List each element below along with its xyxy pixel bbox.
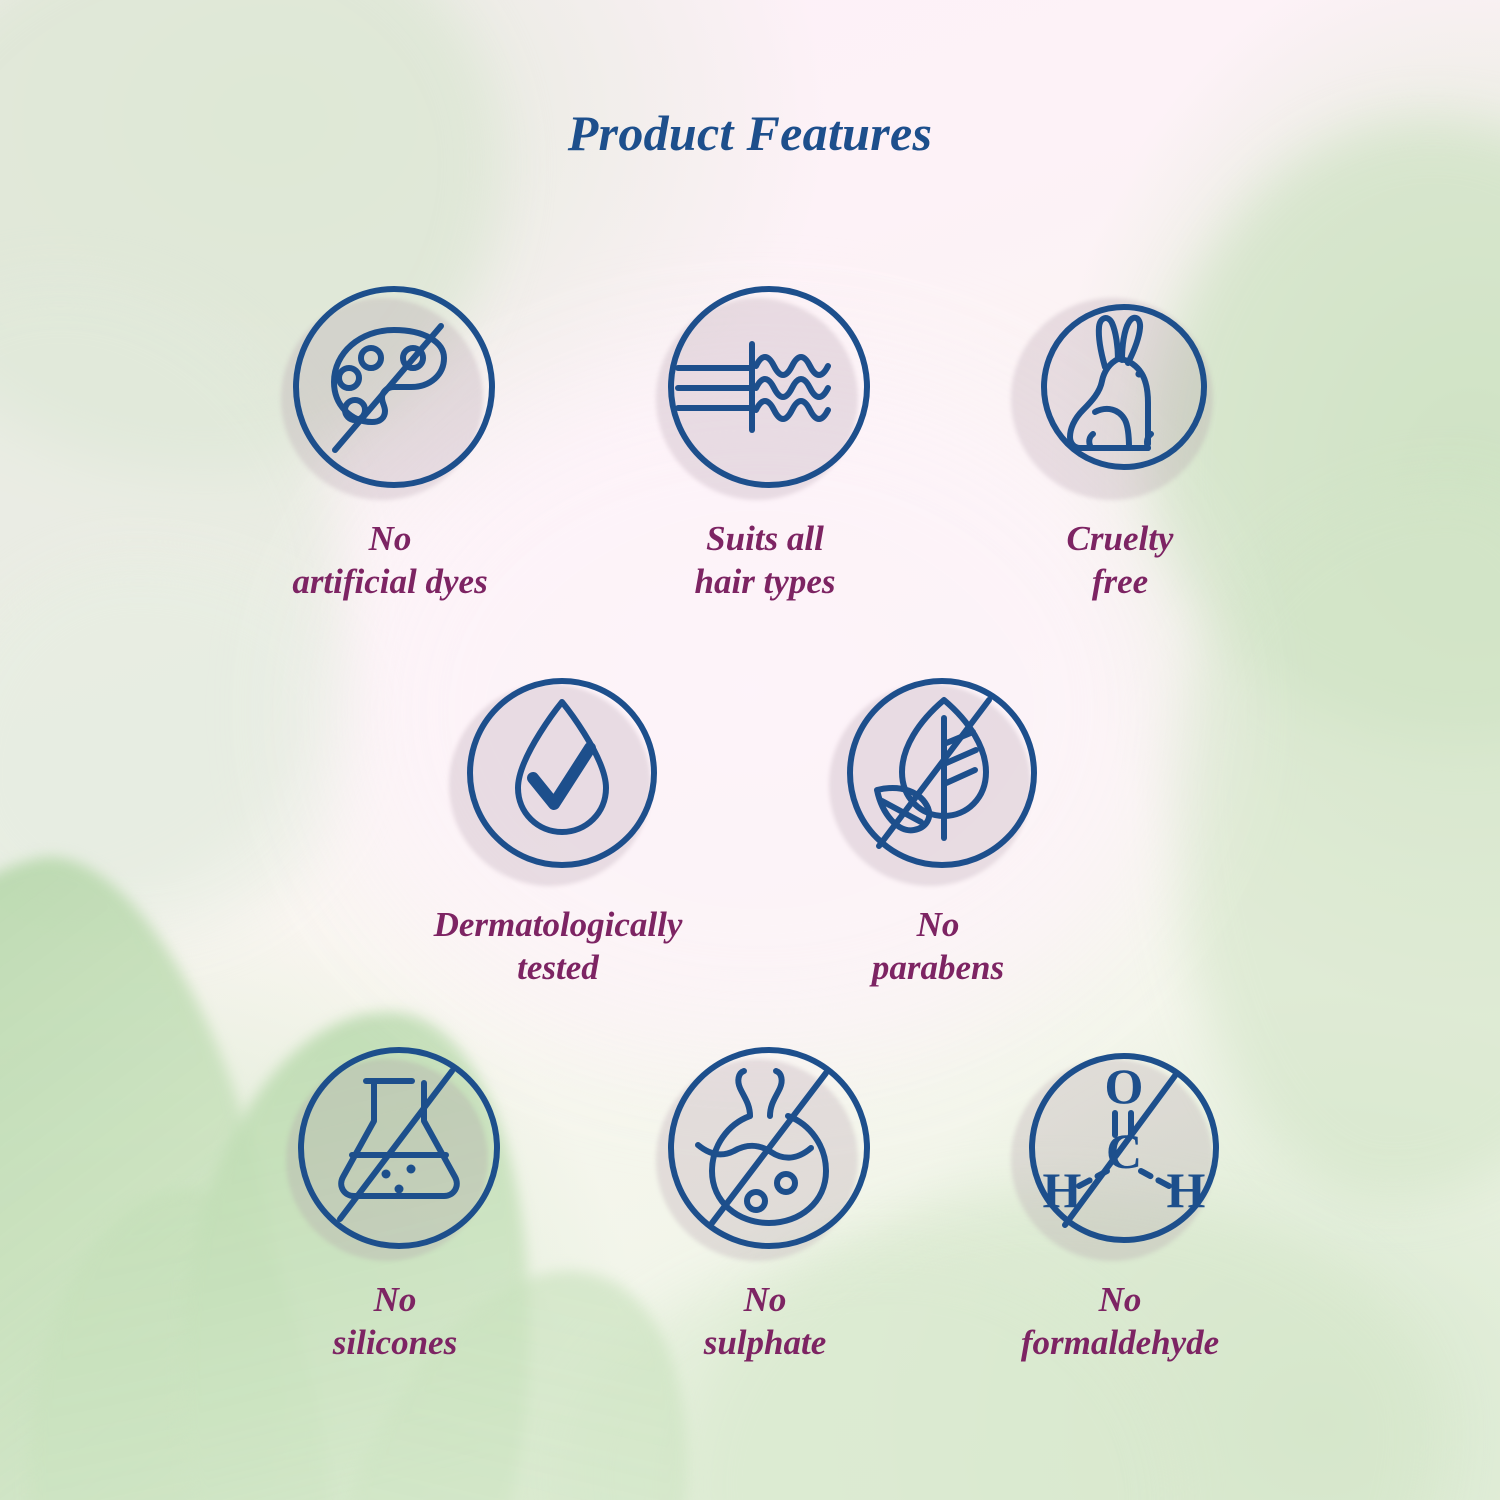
leaf-prohibited-icon [837, 668, 1047, 878]
feature-label: No formaldehyde [970, 1279, 1270, 1364]
water-drop-checkmark-icon [457, 668, 667, 878]
icon-container [286, 1043, 504, 1261]
feature-suits-all-hair-types: Suits all hair types [615, 282, 915, 603]
feature-label-line2: tested [408, 947, 708, 990]
feature-label: Cruelty free [970, 518, 1270, 603]
feature-label: No sulphate [615, 1279, 915, 1364]
feature-no-sulphate: No sulphate [615, 1043, 915, 1364]
formaldehyde-molecule-prohibited-icon: O C H H [1019, 1043, 1229, 1253]
icon-container [656, 282, 874, 500]
straight-and-wavy-hair-icon [664, 282, 874, 492]
round-flask-prohibited-icon [664, 1043, 874, 1253]
feature-label-line1: No [240, 518, 540, 561]
icon-container: O C H H [1011, 1043, 1229, 1261]
feature-label: No silicones [245, 1279, 545, 1364]
feature-label-line1: No [245, 1279, 545, 1322]
feature-label-line2: artificial dyes [240, 561, 540, 604]
erlenmeyer-flask-prohibited-icon [294, 1043, 504, 1253]
feature-label-line1: No [970, 1279, 1270, 1322]
feature-label-line2: free [970, 561, 1270, 604]
paint-palette-prohibited-icon [289, 282, 499, 492]
feature-label-line2: hair types [615, 561, 915, 604]
feature-no-artificial-dyes: No artificial dyes [240, 282, 540, 603]
feature-label-line1: No [615, 1279, 915, 1322]
feature-label-line1: Suits all [615, 518, 915, 561]
feature-label: Dermatologically tested [408, 904, 708, 989]
feature-no-formaldehyde: O C H H No formaldehyde [970, 1043, 1270, 1364]
feature-label-line1: No [788, 904, 1088, 947]
page-title: Product Features [0, 104, 1500, 162]
feature-label-line1: Cruelty [970, 518, 1270, 561]
feature-dermatologically-tested: Dermatologically tested [408, 668, 708, 989]
molecule-oxygen-label: O [1105, 1058, 1144, 1114]
feature-label-line2: sulphate [615, 1322, 915, 1365]
feature-label: No parabens [788, 904, 1088, 989]
feature-label-line2: parabens [788, 947, 1088, 990]
feature-label: Suits all hair types [615, 518, 915, 603]
feature-label: No artificial dyes [240, 518, 540, 603]
molecule-hydrogen-right-label: H [1167, 1162, 1206, 1218]
icon-container [829, 668, 1047, 886]
product-features-page: Product Features No artificial dyes [0, 0, 1500, 1500]
icon-container [281, 282, 499, 500]
feature-label-line1: Dermatologically [408, 904, 708, 947]
feature-cruelty-free: Cruelty free [970, 282, 1270, 603]
rabbit-icon [1019, 282, 1229, 492]
feature-no-parabens: No parabens [788, 668, 1088, 989]
icon-container [656, 1043, 874, 1261]
feature-no-silicones: No silicones [245, 1043, 545, 1364]
icon-container [1011, 282, 1229, 500]
feature-label-line2: silicones [245, 1322, 545, 1365]
icon-container [449, 668, 667, 886]
feature-label-line2: formaldehyde [970, 1322, 1270, 1365]
